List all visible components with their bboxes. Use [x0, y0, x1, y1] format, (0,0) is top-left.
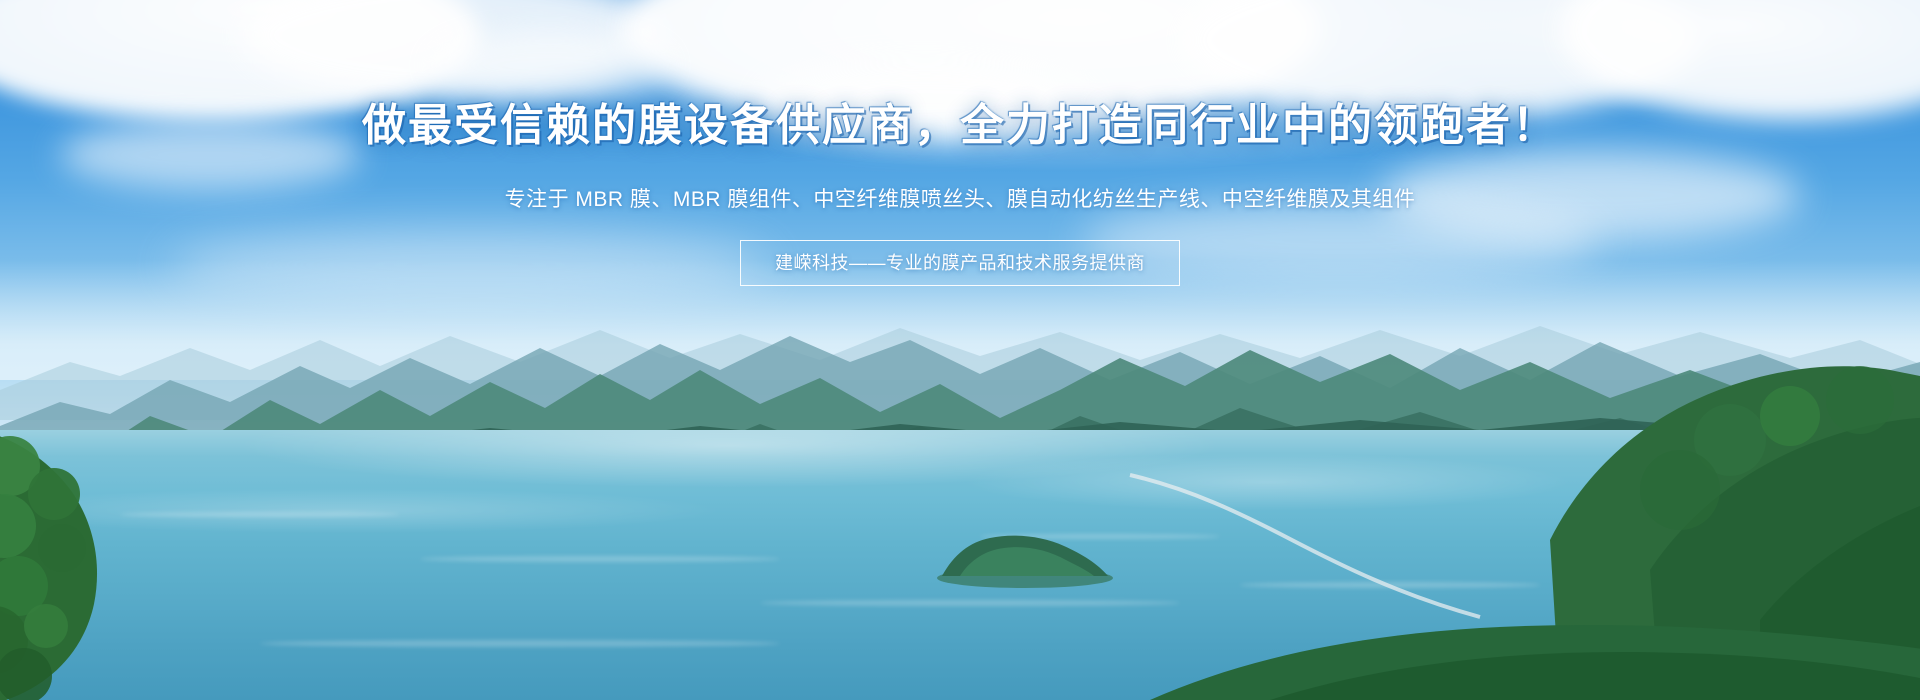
hero-banner: 做最受信赖的膜设备供应商，全力打造同行业中的领跑者！ 专注于 MBR 膜、MBR…: [0, 0, 1920, 700]
banner-subheadline: 专注于 MBR 膜、MBR 膜组件、中空纤维膜喷丝头、膜自动化纺丝生产线、中空纤…: [0, 185, 1920, 215]
banner-text-overlay: 做最受信赖的膜设备供应商，全力打造同行业中的领跑者！ 专注于 MBR 膜、MBR…: [0, 0, 1920, 700]
banner-tagline-wrapper: 建嵘科技——专业的膜产品和技术服务提供商: [0, 240, 1920, 286]
banner-tagline-box: 建嵘科技——专业的膜产品和技术服务提供商: [740, 240, 1180, 286]
banner-headline: 做最受信赖的膜设备供应商，全力打造同行业中的领跑者！: [0, 100, 1920, 152]
